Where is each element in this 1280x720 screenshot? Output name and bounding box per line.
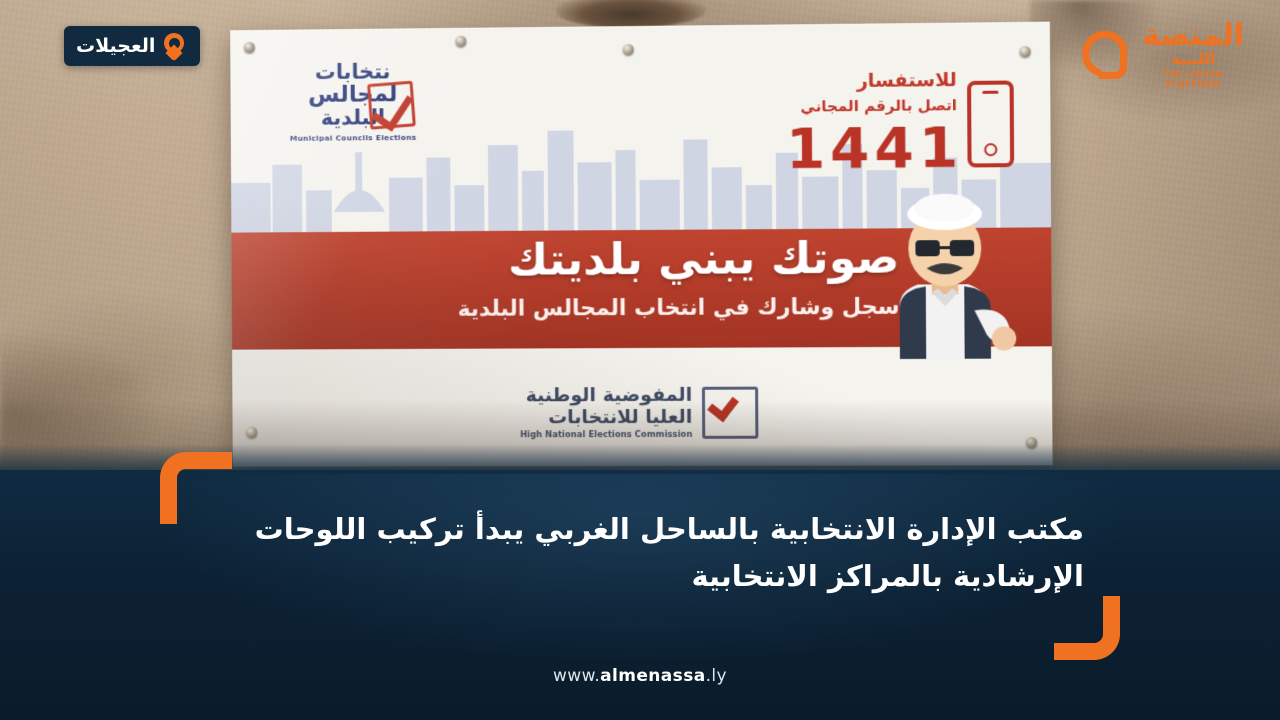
location-badge[interactable]: العجيلات — [64, 26, 200, 66]
brand-name-arabic-sub: الليبية — [1142, 52, 1244, 67]
website-name: almenassa — [600, 666, 705, 686]
banner-screw — [1020, 46, 1031, 57]
banner-slogan-band: صوتك يبني بلديتك سجل وشارك في انتخاب الم… — [231, 227, 1051, 349]
hotline-line-2: اتصل بالرقم المجاني — [800, 96, 957, 115]
website-suffix: .ly — [706, 666, 727, 686]
decor-bracket-bottom-right — [1054, 596, 1120, 660]
hotline-block: للاستفسار اتصل بالرقم المجاني 1441 — [711, 62, 1014, 195]
hotline-line-1: للاستفسار — [857, 69, 957, 92]
brand-en-line1: THE LIBYAN — [1163, 70, 1224, 79]
screenshot-root: نتخابات لمجالس البلدية Municipal Council… — [0, 0, 1280, 720]
slogan-sub: سجل وشارك في انتخاب المجالس البلدية — [457, 295, 899, 322]
location-label: العجيلات — [76, 35, 155, 57]
banner-screw — [455, 36, 466, 47]
map-pin-icon — [164, 33, 184, 59]
mobile-phone-icon — [967, 80, 1014, 167]
website-prefix: www. — [553, 666, 600, 686]
brand-name-arabic-main: المنصة — [1142, 18, 1244, 53]
hotline-number: 1441 — [786, 115, 964, 182]
mascot-character — [869, 187, 1022, 359]
brand-en-line2: PLATFORM — [1166, 80, 1221, 89]
slogan-main: صوتك يبني بلديتك — [508, 232, 900, 285]
brand-mark-icon — [1080, 29, 1132, 81]
brand-name-english: THE LIBYAN PLATFORM — [1142, 70, 1244, 89]
website-url: www.almenassa.ly — [0, 666, 1280, 686]
headline-text: مكتب الإدارة الانتخابية بالساحل الغربي ي… — [200, 506, 1084, 600]
banner-screw — [623, 44, 634, 55]
municipal-elections-logo: نتخابات لمجالس البلدية Municipal Council… — [274, 60, 433, 171]
logo-english-name: Municipal Councils Elections — [274, 133, 432, 143]
checkbox-icon — [367, 81, 416, 130]
banner-screw — [244, 42, 255, 53]
brand-name-arabic: المنصة الليبية — [1142, 21, 1244, 67]
brand-logo[interactable]: المنصة الليبية THE LIBYAN PLATFORM — [1080, 18, 1244, 92]
